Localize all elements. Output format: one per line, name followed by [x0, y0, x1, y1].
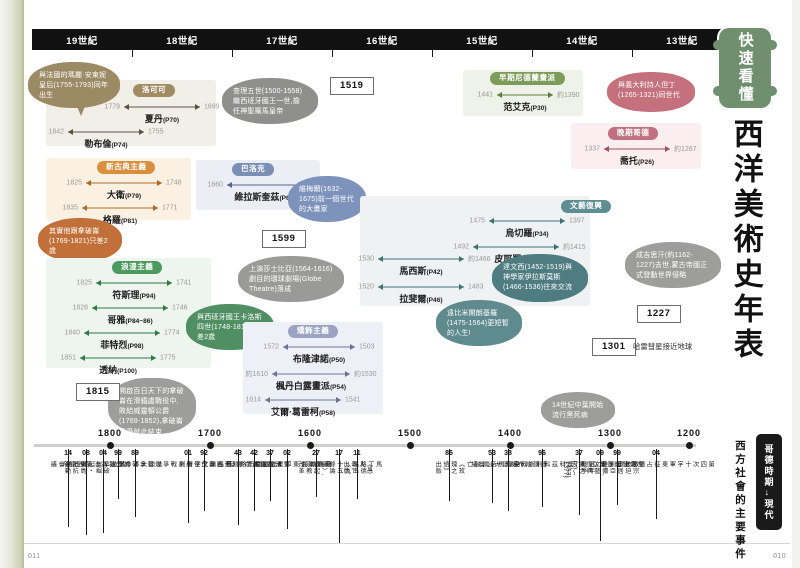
- artist-label: 烏切羅(P34): [489, 226, 565, 239]
- span-romantic-friedrich: 1840 1774 菲特烈(P98): [84, 327, 160, 338]
- span-romantic-goya: 1828 1746 哥雅(P84~86): [92, 302, 168, 313]
- era-pill-neoclassicism: 新古典主義: [97, 161, 155, 174]
- span-rococo-chardin: 1779 1699 夏丹(P70): [124, 101, 200, 112]
- year-left: 1828: [72, 304, 88, 311]
- yearbox-1301: 1301: [592, 338, 636, 356]
- axis-event-year: 04: [99, 450, 107, 457]
- page-left-edge: [0, 0, 22, 568]
- axis-dot-1800: [107, 442, 114, 449]
- year-right: 1741: [176, 279, 192, 286]
- axis-event-year: 92: [200, 450, 208, 457]
- year-right: 約1530: [354, 369, 377, 379]
- axis-event-year: 09: [596, 450, 604, 457]
- era-pill-mannerism: 矯飾主義: [288, 325, 338, 338]
- era-pill-late-gothic: 晚期哥德: [608, 127, 658, 140]
- era-pill-early-netherlandish: 早期尼德蘭畫派: [490, 72, 565, 85]
- page-title: 西洋美術史年表: [728, 118, 762, 363]
- axis-label-1400: 1400: [498, 428, 522, 438]
- axis-event-text: 《玫瑰之語》出版: [434, 461, 465, 474]
- year-left: 1492: [453, 243, 469, 250]
- axis-dot-1500: [407, 442, 414, 449]
- yearbox-1227: 1227: [637, 305, 681, 323]
- bubble-genghis-khan: 成吉思汗(約1162-1227)去世,蒙古帝國正式發動世界侵略: [625, 242, 721, 288]
- span-neoclassic-gros: 1835 1771 格羅(P81): [82, 202, 158, 213]
- bubble-black-death: 14世紀中葉開始流行黑死病: [541, 392, 615, 428]
- year-left: 1520: [358, 283, 374, 290]
- span-romantic-turner: 1851 1775 透納(P100): [80, 352, 156, 363]
- year-left: 約1610: [245, 369, 268, 379]
- century-cell-16: 16世紀: [332, 29, 432, 50]
- axis-event-year: 43: [234, 450, 242, 457]
- axis-event-year: 99: [114, 450, 122, 457]
- century-cell-17: 17世紀: [232, 29, 332, 50]
- axis-label-1700: 1700: [198, 428, 222, 438]
- span-neoclassic-david: 1825 1748 大衛(P79): [86, 177, 162, 188]
- year-right: 1746: [172, 304, 188, 311]
- year-right: 1774: [164, 329, 180, 336]
- year-left: 1825: [66, 179, 82, 186]
- axis-label-1300: 1300: [598, 428, 622, 438]
- axis-event-year: 42: [250, 450, 258, 457]
- axis-dot-1600: [307, 442, 314, 449]
- span-mannerism-fontainebleau: 約1610 約1530 楓丹白露畫派(P54): [272, 368, 350, 379]
- span-mannerism-el-greco: 1614 1541 艾爾·葛雷柯(P58): [265, 394, 341, 405]
- title-panel: 快速看懂 西洋美術史年表: [712, 26, 778, 434]
- span-rococo-lebrun: 1842 1755 勒布倫(P74): [68, 126, 144, 137]
- yearbox-1815: 1815: [76, 383, 120, 401]
- era-pill-romanticism: 浪漫主義: [112, 261, 162, 274]
- bubble-charles-v: 查理五世(1500-1558)繼西班牙國王一世,擔任神聖羅馬皇帝: [222, 78, 318, 124]
- infographic-page: 011 010 19世紀 18世紀 17世紀 16世紀 15世紀 14世紀 13…: [0, 0, 800, 568]
- axis-dot-1300: [607, 442, 614, 449]
- bubble-globe-theatre: 上演莎士比亞(1564-1616)劇目的環球劇場(Globe Theatre)落…: [238, 256, 344, 302]
- axis-label-1200: 1200: [677, 428, 701, 438]
- year-left: 1530: [358, 255, 374, 262]
- year-right: 1541: [345, 396, 361, 403]
- artist-label: 馬西斯(P42): [378, 264, 464, 277]
- span-gothic-giotto: 1337 約1267 喬托(P26): [604, 143, 670, 154]
- axis-dot-1700: [207, 442, 214, 449]
- artist-label: 菲特烈(P98): [84, 338, 160, 351]
- span-renaissance-uccello: 1475 1397 烏切羅(P34): [489, 215, 565, 226]
- span-renaissance-massys: 1530 約1466 馬西斯(P42): [378, 253, 464, 264]
- page-gutter-line: [22, 0, 24, 568]
- year-left: 1840: [64, 329, 80, 336]
- axis-event-text: 第四次十字軍東征占領君士坦丁堡: [598, 461, 714, 467]
- artist-label: 喬托(P26): [604, 154, 670, 167]
- era-pill-baroque: 巴洛克: [232, 163, 274, 176]
- page-right-edge: [792, 0, 800, 568]
- artist-label: 范艾克(P30): [497, 100, 553, 113]
- yearbox-1599: 1599: [262, 230, 306, 248]
- note-1301: 哈雷彗星接近地球: [633, 341, 692, 352]
- axis-label-1800: 1800: [98, 428, 122, 438]
- axis-event-year: 27: [312, 450, 320, 457]
- year-right: 1397: [569, 217, 585, 224]
- side-tab-label: 哥德時期→現代: [763, 444, 776, 521]
- axis-event-year: 14: [64, 450, 72, 457]
- span-renaissance-raphael: 1520 1483 拉斐爾(P46): [378, 281, 464, 292]
- axis-event-year: 11: [353, 450, 360, 457]
- axis-event-year: 37: [575, 450, 583, 457]
- axis-event-year: 53: [488, 450, 496, 457]
- century-cell-14: 14世紀: [532, 29, 632, 50]
- bubble-waterloo: 開啟百日天下的拿破崙在滑鐵盧戰役中,敗給威靈頓公爵(1769-1852),拿破崙…: [108, 378, 196, 434]
- axis-event-year: 38: [504, 450, 512, 457]
- artist-label: 符斯理(P94): [96, 288, 172, 301]
- artist-label: 拉斐爾(P46): [378, 292, 464, 305]
- axis-event-year: 96: [538, 450, 546, 457]
- year-left: 1572: [263, 343, 279, 350]
- year-left: 1337: [584, 145, 600, 152]
- artist-label: 勒布倫(P74): [68, 137, 144, 150]
- span-netherlandish-van-eyck: 1441 約1390 范艾克(P30): [497, 89, 553, 100]
- era-pill-rococo: 洛可可: [133, 84, 175, 97]
- axis-label-1500: 1500: [398, 428, 422, 438]
- axis-event-year: 01: [184, 450, 192, 457]
- axis-event-year: 02: [283, 450, 291, 457]
- bubble-dante: 與義大利詩人但丁(1265-1321)同世代: [607, 72, 695, 112]
- year-left: 1779: [104, 103, 120, 110]
- century-tickmarks: [32, 50, 732, 59]
- span-renaissance-piero: 1492 約1415 皮耶羅(P38): [473, 241, 559, 252]
- bubble-davinci-erasmus: 達文西(1452-1519)與神學家伊拉斯莫斯(1466-1536)往來交流: [492, 254, 588, 302]
- century-bar: 19世紀 18世紀 17世紀 16世紀 15世紀 14世紀 13世紀: [32, 29, 732, 50]
- century-cell-15: 15世紀: [432, 29, 532, 50]
- social-events-axis: 1800 1700 1600 1500 1400 1300 1200: [34, 444, 696, 447]
- artist-label: 夏丹(P70): [124, 112, 200, 125]
- year-right: 1771: [162, 204, 178, 211]
- year-left: 1475: [469, 217, 485, 224]
- axis-event-year: 99: [613, 450, 621, 457]
- quick-read-badge-text: 快速看懂: [736, 32, 753, 104]
- folio-right: 010: [773, 553, 786, 560]
- bubble-tail-marie-antoinette: [76, 104, 86, 116]
- side-tab-period: 哥德時期→現代: [756, 434, 782, 530]
- year-left: 1660: [207, 181, 223, 188]
- axis-event-year: 86: [445, 450, 453, 457]
- bubble-michelangelo: 遠比米開朗基羅(1475-1564)更短暫的人生!: [436, 300, 522, 346]
- year-right: 約1466: [468, 254, 491, 264]
- span-mannerism-bronzino: 1572 1503 布隆津諾(P50): [283, 341, 355, 352]
- artist-label: 大衛(P79): [86, 188, 162, 201]
- year-right: 約1415: [563, 242, 586, 252]
- span-romantic-fuseli: 1825 1741 符斯理(P94): [96, 277, 172, 288]
- year-right: 約1390: [557, 90, 580, 100]
- axis-dot-1200: [686, 442, 693, 449]
- quick-read-badge: 快速看懂: [717, 26, 773, 110]
- year-right: 1748: [166, 179, 182, 186]
- year-right: 1483: [468, 283, 484, 290]
- axis-event-year: 17: [335, 450, 343, 457]
- year-right: 約1267: [674, 144, 697, 154]
- axis-event-text: 《愚人頌》出版: [342, 461, 373, 474]
- artist-label: 楓丹白露畫派(P54): [272, 379, 350, 392]
- year-left: 1441: [477, 91, 493, 98]
- year-right: 1755: [148, 128, 164, 135]
- axis-event-year: 04: [652, 450, 660, 457]
- century-cell-18: 18世紀: [132, 29, 232, 50]
- bubble-marie-antoinette: 與法國的瑪麗·安東妮皇后(1755-1793)同年出生: [28, 62, 120, 108]
- year-left: 1842: [48, 128, 64, 135]
- century-cell-19: 19世紀: [32, 29, 132, 50]
- year-left: 1614: [245, 396, 261, 403]
- axis-label-1600: 1600: [298, 428, 322, 438]
- axis-event-year: 37: [266, 450, 274, 457]
- artist-label: 哥雅(P84~86): [92, 313, 168, 326]
- year-right: 1503: [359, 343, 375, 350]
- folio-left: 011: [28, 553, 40, 560]
- axis-caption: 西方社會的主要事件: [733, 440, 748, 562]
- axis-dot-1400: [507, 442, 514, 449]
- bubble-napoleon: 其實他跟拿破崙(1769-1821)只差2歲: [38, 218, 122, 262]
- yearbox-1519: 1519: [330, 77, 374, 95]
- axis-event-year: 08: [82, 450, 90, 457]
- bubble-vermeer: 維梅爾(1632-1675)前一個世代的大畫家: [288, 176, 366, 222]
- year-left: 1851: [60, 354, 76, 361]
- artist-label: 透納(P100): [80, 363, 156, 376]
- year-left: 1835: [62, 204, 78, 211]
- bottom-divider: [24, 543, 790, 544]
- year-left: 1825: [76, 279, 92, 286]
- year-right: 1699: [204, 103, 220, 110]
- year-right: 1775: [160, 354, 176, 361]
- era-pill-renaissance: 文藝復興: [561, 200, 611, 213]
- artist-label: 艾爾·葛雷柯(P58): [265, 405, 341, 418]
- artist-label: 布隆津諾(P50): [283, 352, 355, 365]
- axis-event-year: 89: [131, 450, 139, 457]
